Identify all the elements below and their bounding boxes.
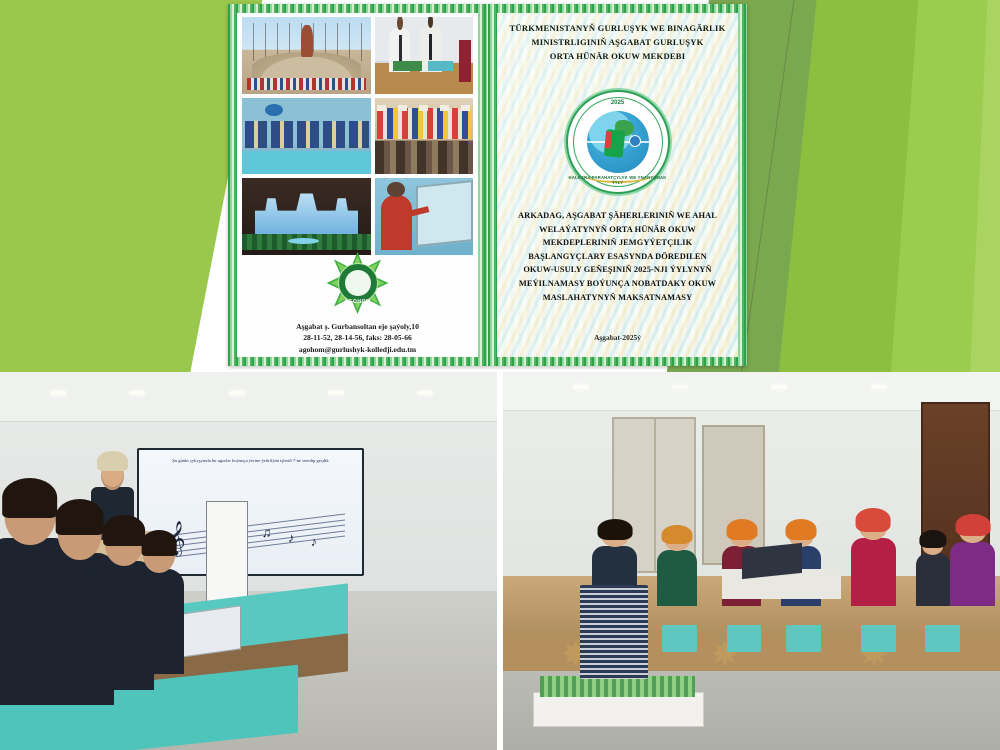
- emblem-legend-label: HALKARA PARAHATÇYLYK WE YNANYŞMAK ÝYLY: [568, 175, 668, 185]
- slide-text: Şu günki çykyşymda bu ugurlar boýunça ýe…: [152, 458, 349, 465]
- booklet-left-page: AGOHOM Aşgabat ş. Gurbansoltan eje şaýol…: [228, 4, 488, 366]
- body-line-4: BAŞLANGYÇLARY ESASYNDA DÖREDILEN: [498, 250, 737, 264]
- booklet-spread: AGOHOM Aşgabat ş. Gurbansoltan eje şaýol…: [228, 4, 747, 366]
- panel-person: [950, 542, 995, 606]
- heading-line-3: ORTA HÜNÄR OKUW MEKDEBI: [502, 50, 733, 64]
- emblem-acronym-label: AGOHOM: [327, 299, 389, 305]
- music-staff-graphic: 𝄞 ♯ ♯ ♫ ♪ ♪: [157, 512, 345, 557]
- conference-hall-panel-photo: [503, 372, 1000, 750]
- contact-block: Aşgabat ş. Gurbansoltan eje şaýoly,10 28…: [228, 321, 487, 356]
- audience-person: [134, 569, 184, 675]
- laptop-device: [742, 543, 802, 580]
- photo-students-blue-uniform: [242, 98, 371, 175]
- ministry-heading: TÜRKMENISTANYŇ GURLUŞYK WE BINAGÄRLIK MI…: [502, 22, 733, 64]
- music-note-icon: ♪: [311, 534, 318, 550]
- photo-collage: [242, 17, 473, 255]
- music-note-icon: ♫: [262, 525, 272, 541]
- body-line-1: ARKADAG, AŞGABAT ŞÄHERLERINIŇ WE AHAL: [498, 209, 737, 223]
- heading-line-2: MINISTRLIGINIŇ AŞGABAT GURLUŞYK: [502, 36, 733, 50]
- conference-hall-presentation-photo: Şu günki çykyşymda bu ugurlar boýunça ýe…: [0, 372, 497, 750]
- program-title-block: ARKADAG, AŞGABAT ŞÄHERLERINIŇ WE AHAL WE…: [498, 209, 737, 304]
- body-line-2: WELAÝATYNYŇ ORTA HÜNÄR OKUW: [498, 223, 737, 237]
- globe-icon: [587, 111, 649, 173]
- photo-traditional-dress-stage: [375, 98, 473, 175]
- teal-folder: [786, 625, 821, 651]
- booklet-right-page: TÜRKMENISTANYŇ GURLUŞYK WE BINAGÄRLIK MI…: [488, 4, 747, 366]
- place-year-footer: Aşgabat-2025ý: [488, 333, 747, 342]
- emblem-year-label: 2025: [568, 100, 668, 106]
- teal-folder: [861, 625, 896, 651]
- un-emblem-icon: [629, 135, 642, 148]
- year-2025-emblem: 2025 HALKARA PARAHATÇYLYK WE YNANYŞMAK Ý…: [566, 90, 670, 194]
- body-line-3: MEKDEPLERINIŇ JEMGYÝETÇILIK: [498, 236, 737, 250]
- agohom-emblem: AGOHOM: [327, 252, 389, 314]
- panel-person: [916, 553, 951, 606]
- panel-person: [851, 538, 896, 606]
- photo-monument-celebration: [242, 17, 371, 94]
- photo-students-model-presentation: [375, 17, 473, 94]
- photo-girl-drawing: [375, 178, 473, 255]
- body-line-7: MASLAHATYNYŇ MAKSATNAMASY: [498, 291, 737, 305]
- turkmenistan-flag-icon: [604, 129, 625, 158]
- contact-address: Aşgabat ş. Gurbansoltan eje şaýoly,10: [228, 321, 487, 333]
- body-line-6: MEÝILNAMASY BOÝUNÇA NOBATDAKY OKUW: [498, 277, 737, 291]
- slide-canvas: AGOHOM Aşgabat ş. Gurbansoltan eje şaýol…: [0, 0, 1000, 750]
- teal-folder: [727, 625, 762, 651]
- contact-email: agohom@gurlushyk-kolledji.edu.tm: [228, 344, 487, 356]
- contact-phone: 28-11-52, 28-14-56, faks: 28-05-66: [228, 332, 487, 344]
- music-note-icon: ♪: [288, 530, 295, 546]
- photo-blue-building-model: [242, 178, 371, 255]
- architectural-tower-model: [533, 576, 702, 727]
- heading-line-1: TÜRKMENISTANYŇ GURLUŞYK WE BINAGÄRLIK: [502, 22, 733, 36]
- body-line-5: OKUW-USULY GEŇEŞINIŇ 2025-NJI ÝYLYNYŇ: [498, 263, 737, 277]
- teal-folder: [925, 625, 960, 651]
- photo-strip: Şu günki çykyşymda bu ugurlar boýunça ýe…: [0, 372, 1000, 750]
